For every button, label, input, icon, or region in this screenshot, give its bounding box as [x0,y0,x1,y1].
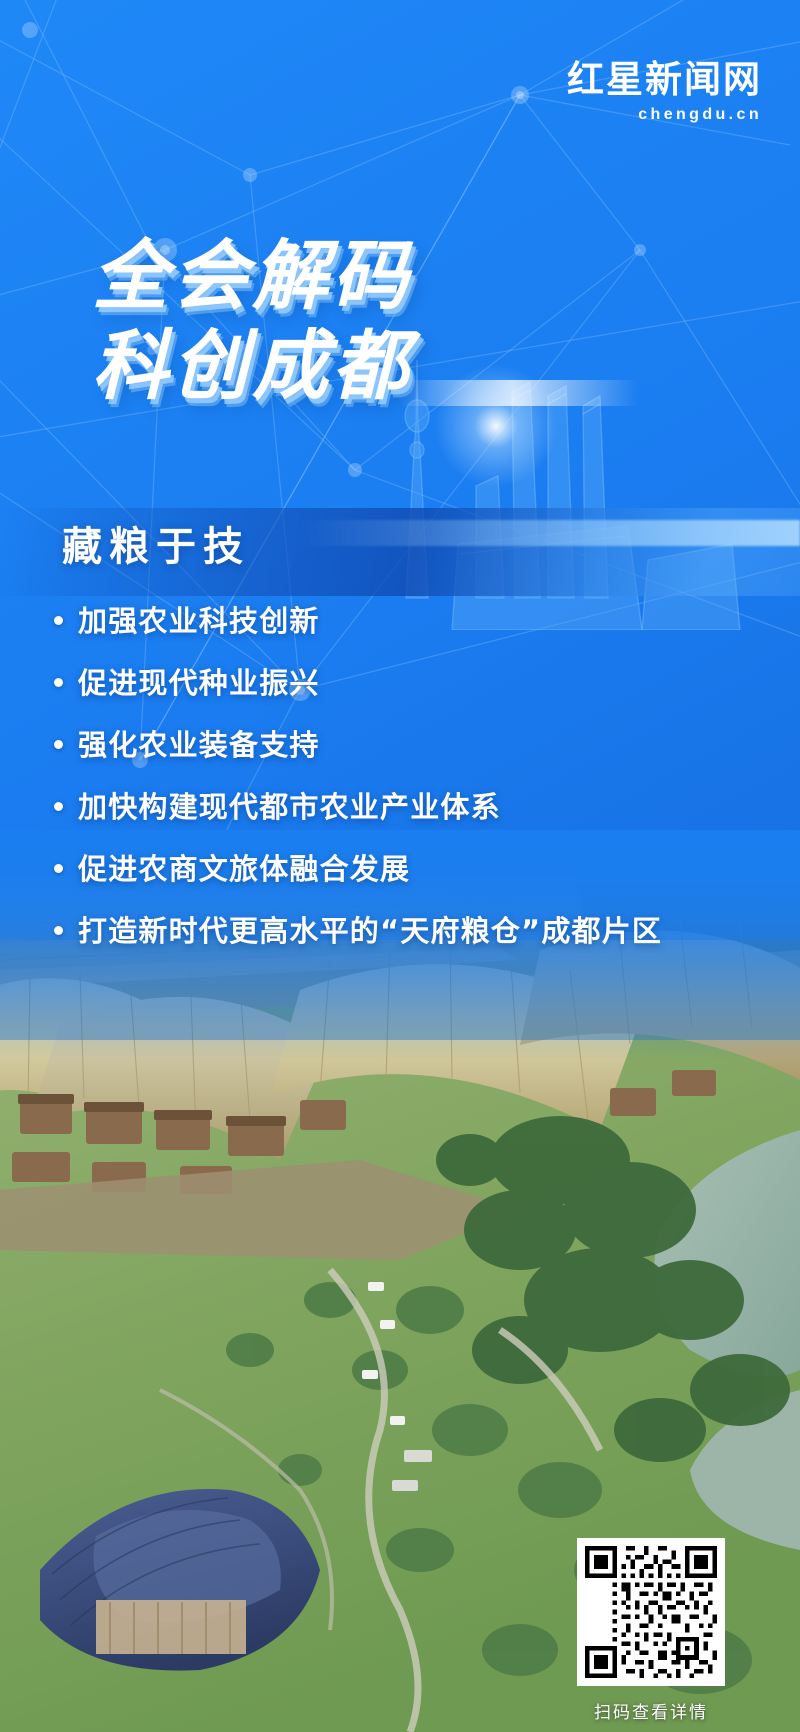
list-item: 打造新时代更高水平的“天府粮仓”成都片区 [46,910,776,952]
bullet-text: 打造新时代更高水平的“天府粮仓”成都片区 [78,910,662,952]
bullet-text: 促进农商文旅体融合发展 [78,848,410,890]
lens-flare-streak-icon [398,380,638,406]
subtitle-band-highlight [300,520,800,546]
list-item: 加强农业科技创新 [46,600,776,642]
list-item: 促进现代种业振兴 [46,662,776,704]
list-item: 促进农商文旅体融合发展 [46,848,776,890]
lens-flare-glow-icon [426,356,566,496]
bullet-list: 加强农业科技创新 促进现代种业振兴 强化农业装备支持 加快构建现代都市农业产业体… [46,600,776,972]
bullet-text: 加强农业科技创新 [78,600,320,642]
bullet-text: 促进现代种业振兴 [78,662,320,704]
bullet-text: 强化农业装备支持 [78,724,320,766]
list-item: 强化农业装备支持 [46,724,776,766]
section-subtitle: 藏粮于技 [62,520,250,574]
logo-text-chinese: 红星新闻网 [567,62,762,99]
headline-line-1: 全会解码 [92,238,412,314]
qr-code-icon[interactable] [577,1538,725,1686]
poster: 红星新闻网 chengdu.cn 全会解码 科创成都 藏粮于技 加强农业科技创新… [0,0,800,1732]
site-logo[interactable]: 红星新闻网 chengdu.cn [567,62,762,123]
list-item: 加快构建现代都市农业产业体系 [46,786,776,828]
page-title: 全会解码 科创成都 [92,238,412,404]
logo-text-domain: chengdu.cn [567,107,762,123]
headline-line-2: 科创成都 [92,328,412,404]
qr-caption: 扫码查看详情 [566,1698,736,1723]
qr-code-block[interactable]: 扫码查看详情 [566,1538,736,1723]
bullet-text: 加快构建现代都市农业产业体系 [78,786,501,828]
